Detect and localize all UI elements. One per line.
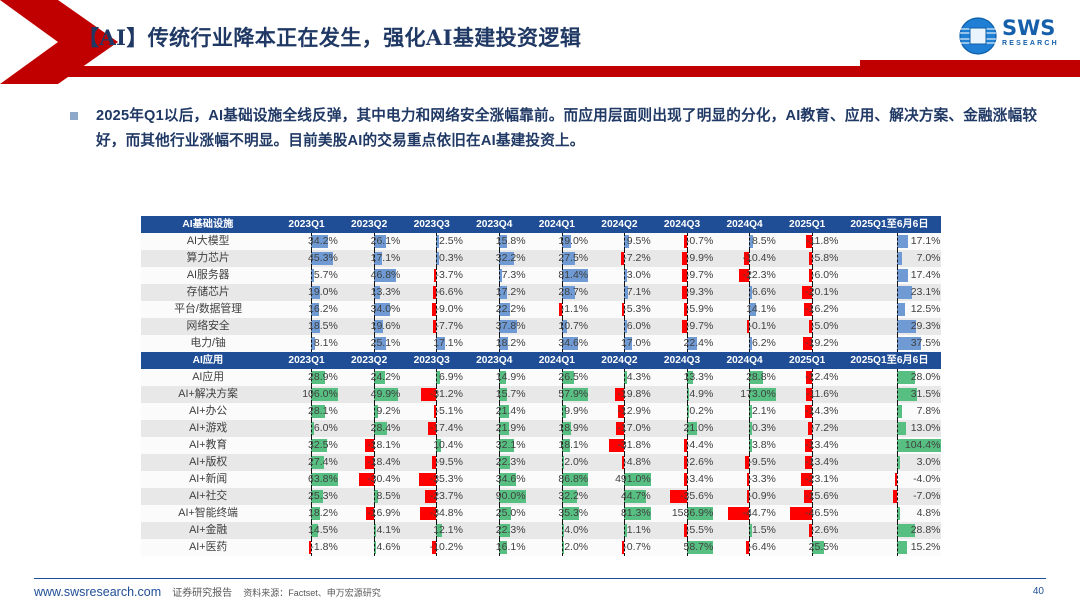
footer-divider [34,578,1046,579]
cell-value: 106.0% [302,388,338,400]
row-label: AI+办公 [141,403,275,420]
data-cell: -0.7% [651,233,714,250]
cell-value: 21.0% [684,422,714,434]
cell-value: -3.3% [748,473,775,485]
data-cell: -9.5% [713,454,776,471]
cell-value: 14.5% [308,524,338,536]
cell-value: 13.3% [684,371,714,383]
data-cell: 3.0% [588,267,651,284]
data-cell: -9.7% [651,318,714,335]
data-cell: 22.2% [463,301,526,318]
zero-axis [897,454,898,471]
data-cell: -9.3% [651,284,714,301]
cell-value: 15.8% [496,235,526,247]
header-red-band-right [860,60,1080,77]
data-cell: -4.0% [838,471,940,488]
cell-value: 37.8% [496,320,526,332]
cell-value: 27.4% [308,456,338,468]
cell-value: 7.3% [502,269,526,281]
cell-value: 17.2% [496,286,526,298]
cell-value: -13.4% [805,439,838,451]
zero-axis [897,267,898,284]
data-cell: -0.1% [713,318,776,335]
zero-axis [897,403,898,420]
cell-value: -4.4% [686,439,713,451]
data-cell: -17.4% [400,420,463,437]
data-cell: 45.3% [275,250,338,267]
table-row: 电力/铀8.1%25.1%17.1%18.2%34.6%17.0%22.4%6.… [141,335,941,352]
cell-value: 25.5% [809,541,839,553]
cell-value: -7.2% [811,422,838,434]
section-title: AI基础设施 [141,216,275,233]
cell-value: 18.9% [558,422,588,434]
cell-value: -19.8% [617,388,650,400]
data-cell: 8.5% [338,488,401,505]
data-cell: 6.0% [275,420,338,437]
cell-value: 32.1% [496,439,526,451]
zero-axis [897,471,898,488]
zero-axis [374,488,375,505]
cell-value: -9.7% [686,320,713,332]
cell-value: 22.2% [496,303,526,315]
zero-axis [311,335,312,352]
data-cell: 14.1% [713,301,776,318]
data-cell: -6.0% [776,267,839,284]
table-row: AI应用28.9%24.2%6.9%14.9%26.5%4.3%13.3%28.… [141,369,941,386]
zero-axis [897,539,898,556]
data-cell: 10.7% [526,318,589,335]
cell-value: -6.0% [811,269,838,281]
cell-value: 0.3% [752,422,776,434]
data-cell: 13.0% [838,420,940,437]
data-cell: -7.7% [400,318,463,335]
data-cell: -5.0% [776,318,839,335]
table-row: AI+新闻63.8%-30.4%-35.3%34.6%86.8%491.0%-3… [141,471,941,488]
cell-value: -5.9% [686,303,713,315]
cell-value: -6.4% [748,541,775,553]
cell-value: -18.1% [367,439,400,451]
cell-value: -2.6% [811,524,838,536]
cell-value: 37.5% [911,337,941,349]
data-cell: -12.9% [588,403,651,420]
data-cell: 18.9% [526,420,589,437]
cell-value: -9.0% [436,303,463,315]
cell-value: 28.4% [371,422,401,434]
bar-positive [897,422,905,435]
cell-value: 21.4% [496,405,526,417]
sws-logo-icon [958,16,998,56]
cell-value: -11.8% [806,235,839,247]
zero-axis [499,267,500,284]
cell-value: 28.0% [911,371,941,383]
data-cell: -5.3% [588,301,651,318]
cell-value: 1.1% [627,524,651,536]
table-row: AI+版权27.4%-18.4%-9.5%22.3%2.0%-4.8%-2.6%… [141,454,941,471]
data-cell: -12.4% [776,369,839,386]
data-cell: 32.1% [463,437,526,454]
cell-value: 9.5% [627,235,651,247]
data-cell: 63.8% [275,471,338,488]
cell-value: -3.7% [436,269,463,281]
table-row: 网络安全18.5%19.6%-7.7%37.8%10.7%6.0%-9.7%-0… [141,318,941,335]
cell-value: -17.4% [430,422,463,434]
cell-value: 3.0% [917,456,941,468]
zero-axis [624,522,625,539]
cell-value: -19.2% [805,337,838,349]
cell-value: -23.7% [430,490,463,502]
data-cell: 46.8% [338,267,401,284]
row-label: 存储芯片 [141,284,275,301]
zero-axis [749,437,750,454]
data-cell: -11.8% [776,233,839,250]
cell-value: 49.9% [371,388,401,400]
data-cell: 10.4% [400,437,463,454]
cell-value: 10.4% [433,439,463,451]
column-header: 2024Q1 [526,216,589,233]
zero-axis [897,488,898,505]
zero-axis [749,420,750,437]
cell-value: 6.0% [314,422,338,434]
data-cell: 14.9% [463,369,526,386]
cell-value: 8.5% [752,235,776,247]
column-header: 2024Q4 [713,216,776,233]
cell-value: -9.7% [686,269,713,281]
data-cell: 19.0% [275,284,338,301]
cell-value: 19.0% [558,235,588,247]
data-cell: 21.4% [463,403,526,420]
cell-value: 32.2% [496,252,526,264]
cell-value: 46.8% [371,269,401,281]
zero-axis [897,284,898,301]
column-header: 2023Q2 [338,216,401,233]
data-cell: 0.3% [713,420,776,437]
cell-value: -18.4% [367,456,400,468]
data-cell: 37.8% [463,318,526,335]
data-cell: 3.8% [713,437,776,454]
data-cell: 28.0% [838,369,940,386]
data-cell: -5.5% [651,522,714,539]
key-takeaway: 2025年Q1以后，AI基础设施全线反弹，其中电力和网络安全涨幅靠前。而应用层面… [70,104,1060,154]
data-cell: -10.2% [400,539,463,556]
cell-value: 34.6% [496,473,526,485]
cell-value: -5.8% [811,252,838,264]
data-cell: -22.3% [713,267,776,284]
zero-axis [436,250,437,267]
zero-axis [624,284,625,301]
row-label: 电力/铀 [141,335,275,352]
data-cell: 1.5% [713,522,776,539]
data-cell: -9.9% [651,250,714,267]
row-label: AI应用 [141,369,275,386]
data-cell: 21.9% [463,420,526,437]
cell-value: -3.4% [686,473,713,485]
cell-value: 6.9% [439,371,463,383]
cell-value: 6.6% [752,286,776,298]
data-cell: 32.2% [526,488,589,505]
cell-value: 4.9% [689,388,713,400]
column-header: 2024Q3 [651,352,714,369]
cell-value: -13.4% [805,456,838,468]
cell-value: -4.0% [913,473,940,485]
bar-positive [897,286,911,299]
data-cell: 22.3% [463,522,526,539]
cell-value: -35.6% [680,490,713,502]
cell-value: 26.1% [371,235,401,247]
bullet-text: 2025年Q1以后，AI基础设施全线反弹，其中电力和网络安全涨幅靠前。而应用层面… [96,104,1060,154]
data-cell: 49.9% [338,386,401,403]
cell-value: -5.5% [686,524,713,536]
cell-value: -23.1% [805,473,838,485]
data-cell: 4.6% [338,539,401,556]
cell-value: 7.0% [917,252,941,264]
data-cell: 90.0% [463,488,526,505]
cell-value: -10.4% [743,252,776,264]
data-cell: 18.5% [275,318,338,335]
data-cell: 13.3% [651,369,714,386]
data-cell: 21.0% [651,420,714,437]
data-cell: -2.6% [651,454,714,471]
zero-axis [749,522,750,539]
data-cell: 57.9% [526,386,589,403]
data-cell: -23.1% [776,471,839,488]
cell-value: 7.1% [627,286,651,298]
data-cell: 18.2% [275,505,338,522]
column-header: 2025Q1 [776,352,839,369]
data-cell: 44.7% [588,488,651,505]
column-header: 2023Q4 [463,352,526,369]
data-cell: -3.4% [651,471,714,488]
cell-value: -34.8% [430,507,463,519]
zero-axis [749,284,750,301]
column-header: 2024Q3 [651,216,714,233]
data-cell: 6.6% [713,284,776,301]
cell-value: 25.0% [496,507,526,519]
cell-value: -0.9% [748,490,775,502]
data-cell: -1.1% [526,301,589,318]
cell-value: 2.0% [564,541,588,553]
data-cell: -5.1% [400,403,463,420]
cell-value: 13.0% [911,422,941,434]
table-row: AI+教育32.5%-18.1%10.4%32.1%18.1%-31.8%-4.… [141,437,941,454]
table-row: 存储芯片19.0%13.3%-6.6%17.2%28.7%7.1%-9.3%6.… [141,284,941,301]
cell-value: -12.4% [805,371,838,383]
bar-positive [897,303,905,316]
cell-value: 5.7% [314,269,338,281]
bullet-square-icon [70,112,78,120]
data-cell: -7.0% [838,488,940,505]
cell-value: 22.4% [684,337,714,349]
data-cell: 32.5% [275,437,338,454]
data-cell: -4.4% [651,437,714,454]
zero-axis [624,318,625,335]
row-label: 算力芯片 [141,250,275,267]
zero-axis [624,233,625,250]
zero-axis [374,522,375,539]
cell-value: 17.1% [911,235,941,247]
table-row: AI+智能终端18.2%-16.9%-34.8%25.0%35.3%81.3%1… [141,505,941,522]
cell-value: -1.1% [561,303,588,315]
data-cell: 24.2% [338,369,401,386]
data-cell: 6.9% [400,369,463,386]
data-cell: -18.1% [338,437,401,454]
data-cell: 28.8% [713,369,776,386]
data-cell: 9.5% [588,233,651,250]
zero-axis [311,420,312,437]
cell-value: 28.8% [911,524,941,536]
footer-source: 资料来源：Factset、申万宏源研究 [243,588,381,598]
data-cell: 17.0% [588,335,651,352]
cell-value: -15.6% [805,490,838,502]
cell-value: 17.4% [911,269,941,281]
cell-value: 32.5% [308,439,338,451]
zero-axis [749,233,750,250]
data-cell: -1.8% [275,539,338,556]
cell-value: -7.7% [436,320,463,332]
table-row: 平台/数据管理16.2%34.0%-9.0%22.2%-1.1%-5.3%-5.… [141,301,941,318]
data-cell: 23.1% [838,284,940,301]
data-cell: -15.6% [776,488,839,505]
zero-axis [897,318,898,335]
data-cell: 2.0% [526,454,589,471]
table-row: AI+社交25.3%8.5%-23.7%90.0%32.2%44.7%-35.6… [141,488,941,505]
row-label: AI服务器 [141,267,275,284]
data-cell: 2.0% [526,539,589,556]
data-cell: -13.4% [776,454,839,471]
data-cell: 81.4% [526,267,589,284]
data-cell: 34.0% [338,301,401,318]
zero-axis [897,335,898,352]
data-cell: 2.1% [713,403,776,420]
column-header: 2024Q4 [713,352,776,369]
cell-value: 18.2% [308,507,338,519]
cell-value: 18.2% [496,337,526,349]
zero-axis [897,301,898,318]
data-cell: -4.8% [588,454,651,471]
data-cell: 7.1% [588,284,651,301]
data-cell: -9.7% [651,267,714,284]
column-header: 2024Q2 [588,216,651,233]
data-cell: 81.3% [588,505,651,522]
zero-axis [897,233,898,250]
data-cell: -2.6% [776,522,839,539]
data-cell: -23.7% [400,488,463,505]
zero-axis [687,403,688,420]
data-cell: 17.1% [338,250,401,267]
data-cell: -5.9% [651,301,714,318]
cell-value: 4.6% [376,541,400,553]
cell-value: -0.7% [623,541,650,553]
data-cell: 58.7% [651,539,714,556]
data-cell: 15.7% [463,386,526,403]
cell-value: 17.1% [371,252,401,264]
data-cell: 17.1% [838,233,940,250]
data-cell: 28.9% [275,369,338,386]
data-cell: -6.6% [400,284,463,301]
data-cell: 28.7% [526,284,589,301]
cell-value: 29.3% [911,320,941,332]
cell-value: -16.2% [805,303,838,315]
cell-value: -22.3% [743,269,776,281]
data-cell: -18.4% [338,454,401,471]
cell-value: 25.3% [308,490,338,502]
sws-logo-wordmark: SWS [1002,18,1059,39]
cell-value: -1.8% [310,541,337,553]
cell-value: 16.2% [308,303,338,315]
cell-value: 35.3% [558,507,588,519]
cell-value: -0.7% [686,235,713,247]
cell-value: 2.5% [439,235,463,247]
data-cell: -35.6% [651,488,714,505]
cell-value: -44.7% [743,507,776,519]
column-header: 2023Q3 [400,216,463,233]
data-cell: 173.0% [713,386,776,403]
cell-value: -5.3% [623,303,650,315]
cell-value: 28.8% [746,371,776,383]
data-cell: -3.7% [400,267,463,284]
cell-value: 28.7% [558,286,588,298]
cell-value: 18.5% [308,320,338,332]
column-header: 2023Q1 [275,352,338,369]
data-cell: 17.1% [400,335,463,352]
cell-value: 1.5% [752,524,776,536]
cell-value: 16.1% [496,541,526,553]
data-cell: -13.4% [776,437,839,454]
ai-performance-table: AI基础设施2023Q12023Q22023Q32023Q42024Q12024… [141,216,941,556]
zero-axis [897,369,898,386]
bar-positive [897,235,908,248]
footer: www.swsresearch.com 证券研究报告 资料来源：Factset、… [34,584,381,599]
table-section-header: AI应用2023Q12023Q22023Q32023Q42024Q12024Q2… [141,352,941,369]
data-cell: -44.7% [713,505,776,522]
data-cell: -9.5% [400,454,463,471]
cell-value: 4.3% [627,371,651,383]
data-cell: 86.8% [526,471,589,488]
column-header: 2023Q4 [463,216,526,233]
data-cell: 9.2% [338,403,401,420]
cell-value: 6.2% [752,337,776,349]
data-cell: -9.0% [400,301,463,318]
cell-value: -7.2% [623,252,650,264]
data-cell: -6.4% [713,539,776,556]
data-cell: 19.0% [526,233,589,250]
column-header: 2023Q3 [400,352,463,369]
cell-value: 19.0% [308,286,338,298]
data-cell: -30.4% [338,471,401,488]
cell-value: 34.6% [558,337,588,349]
footer-url[interactable]: www.swsresearch.com [34,585,161,599]
data-cell: 6.0% [588,318,651,335]
row-label: AI+智能终端 [141,505,275,522]
zero-axis [624,267,625,284]
column-header: 2025Q1至6月6日 [838,352,940,369]
table-row: AI+解决方案106.0%49.9%-31.2%15.7%57.9%-19.8%… [141,386,941,403]
data-cell: -5.8% [776,250,839,267]
data-cell: 25.3% [275,488,338,505]
data-cell: 3.0% [838,454,940,471]
row-label: AI+新闻 [141,471,275,488]
cell-value: 2.1% [752,405,776,417]
cell-value: 28.9% [308,371,338,383]
table-row: AI+办公28.1%9.2%-5.1%21.4%9.9%-12.9%0.2%2.… [141,403,941,420]
data-cell: 18.2% [463,335,526,352]
data-cell: 18.1% [526,437,589,454]
cell-value: -6.6% [436,286,463,298]
data-cell: -0.7% [588,539,651,556]
data-cell: 0.2% [651,403,714,420]
cell-value: -12.9% [617,405,650,417]
zero-axis [562,454,563,471]
cell-value: 17.0% [621,337,651,349]
